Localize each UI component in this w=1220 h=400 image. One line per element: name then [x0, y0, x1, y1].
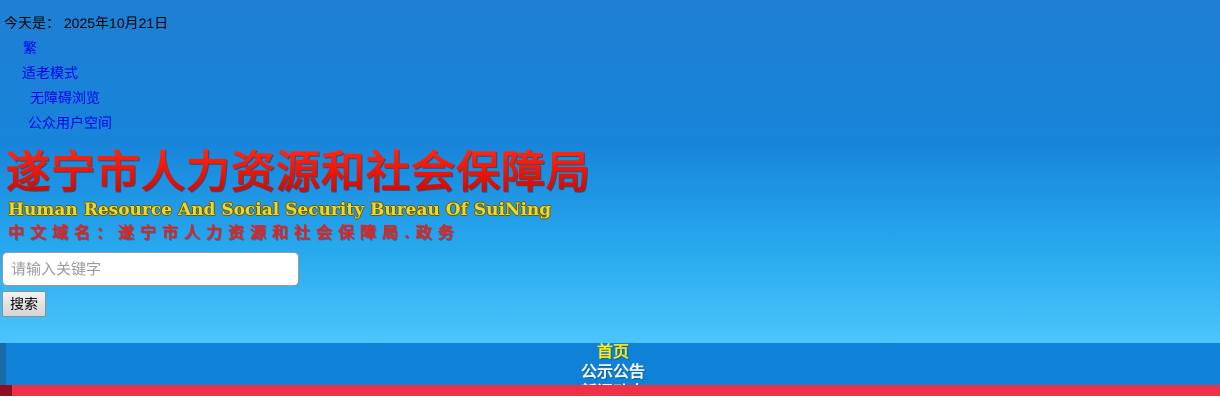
- nav-item-home[interactable]: 首页: [6, 343, 1220, 363]
- current-date-text: 今天是： 2025年10月21日: [4, 14, 168, 32]
- search-area: 搜索: [0, 252, 320, 317]
- public-user-space-link[interactable]: 公众用户空间: [0, 111, 300, 136]
- main-navigation-bar: 首页 公示公告 新闻动态: [6, 343, 1220, 385]
- site-title-english: Human Resource And Social Security Burea…: [8, 199, 700, 221]
- search-input[interactable]: [2, 252, 299, 286]
- accessibility-link[interactable]: 无障碍浏览: [0, 86, 300, 111]
- chinese-domain-name: 中文域名：遂宁市人力资源和社会保障局.政务: [8, 222, 700, 244]
- masthead: 遂宁市人力资源和社会保障局 Human Resource And Social …: [0, 148, 700, 244]
- nav-item-list: 首页 公示公告 新闻动态: [6, 343, 1220, 385]
- page-root: 今天是： 2025年10月21日 繁 适老模式 无障碍浏览 公众用户空间 遂宁市…: [0, 0, 1220, 400]
- site-title-chinese: 遂宁市人力资源和社会保障局: [6, 148, 700, 198]
- red-accent-strip: [12, 385, 1220, 396]
- utility-link-list: 繁 适老模式 无障碍浏览 公众用户空间: [0, 36, 300, 136]
- traditional-chinese-link[interactable]: 繁: [0, 36, 300, 61]
- nav-item-announcements[interactable]: 公示公告: [6, 363, 1220, 383]
- search-button[interactable]: 搜索: [2, 291, 46, 317]
- page-bottom-base: [0, 396, 1220, 400]
- elderly-mode-link[interactable]: 适老模式: [0, 61, 300, 86]
